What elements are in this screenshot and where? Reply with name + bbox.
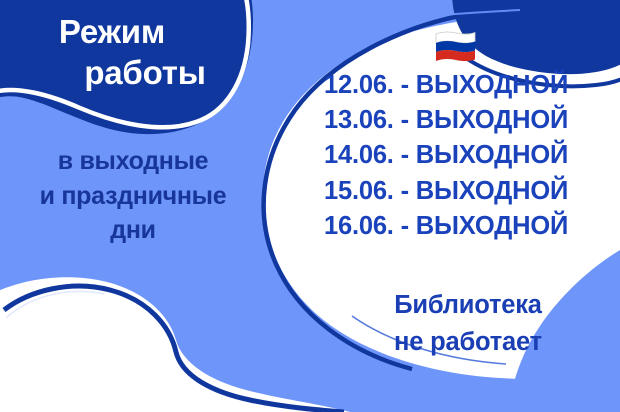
page-subtitle: в выходные и праздничные дни xyxy=(2,144,264,248)
poster-canvas: Режим работы в выходные и праздничные дн… xyxy=(0,0,620,412)
russian-flag-icon xyxy=(432,26,478,66)
schedule-row: 16.06. - ВЫХОДНОЙ xyxy=(324,209,610,244)
schedule-row: 12.06. - ВЫХОДНОЙ xyxy=(324,68,610,103)
page-subtitle-line-3: дни xyxy=(2,213,264,248)
schedule-row: 15.06. - ВЫХОДНОЙ xyxy=(324,174,610,209)
closure-notice-line-2: не работает xyxy=(330,324,606,361)
page-title-line-2: работы xyxy=(0,53,250,94)
closure-notice-line-1: Библиотека xyxy=(330,287,606,324)
closure-notice: Библиотека не работает xyxy=(330,287,606,361)
page-title-line-1: Режим xyxy=(0,12,250,53)
schedule-list: 12.06. - ВЫХОДНОЙ 13.06. - ВЫХОДНОЙ 14.0… xyxy=(324,68,610,244)
page-title: Режим работы xyxy=(0,12,250,94)
page-subtitle-line-2: и праздничные xyxy=(2,179,264,214)
page-subtitle-line-1: в выходные xyxy=(2,144,264,179)
schedule-row: 13.06. - ВЫХОДНОЙ xyxy=(324,103,610,138)
schedule-row: 14.06. - ВЫХОДНОЙ xyxy=(324,138,610,173)
